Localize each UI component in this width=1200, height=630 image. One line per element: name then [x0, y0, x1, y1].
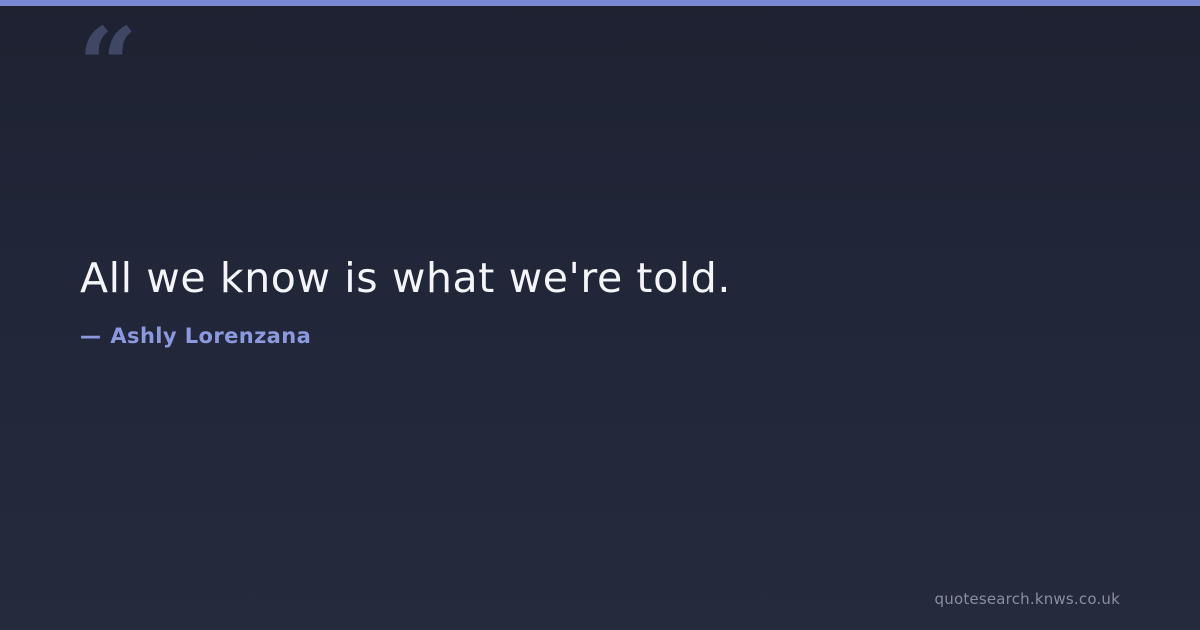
- quote-content: All we know is what we're told. — Ashly …: [80, 252, 1120, 348]
- open-quote-icon: “: [78, 14, 136, 118]
- em-dash: —: [80, 324, 101, 348]
- quote-card: “ All we know is what we're told. — Ashl…: [0, 0, 1200, 630]
- top-accent-bar: [0, 0, 1200, 6]
- author-name: Ashly Lorenzana: [110, 324, 311, 348]
- quote-text: All we know is what we're told.: [80, 252, 1120, 304]
- attribution: — Ashly Lorenzana: [80, 324, 1120, 348]
- source-site-url: quotesearch.knws.co.uk: [935, 590, 1120, 608]
